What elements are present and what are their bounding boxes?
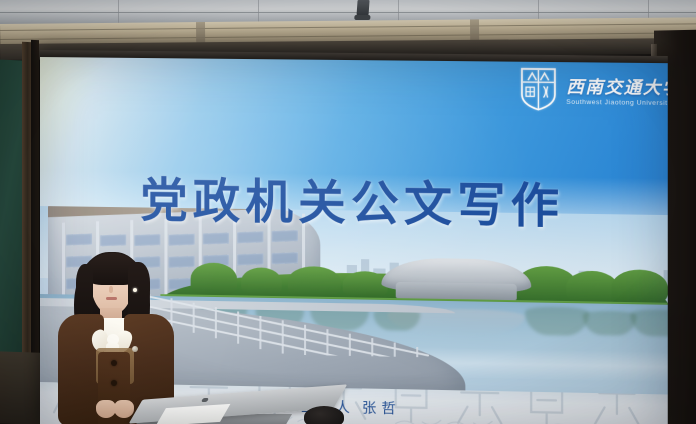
earring: [133, 288, 137, 292]
university-name-en: Southwest Jiaotong University: [566, 99, 668, 107]
jacket-button: [111, 360, 117, 366]
lower-left-wall: [0, 351, 40, 424]
projector-mount-icon: [356, 0, 369, 17]
presenter-name: 张哲: [362, 402, 401, 418]
slide-title: 党政机关公文写作: [40, 160, 668, 239]
hand-right: [114, 400, 134, 418]
jacket-button: [111, 380, 117, 386]
nose: [109, 286, 113, 293]
lapel-pin: [132, 346, 138, 352]
hand-left: [96, 400, 116, 418]
lecture-hall-scene: 西南交通大学 Southwest Jiaotong University 党政机…: [0, 0, 696, 424]
university-name-cn: 西南交通大学: [566, 72, 668, 99]
lectern-object: [304, 406, 344, 424]
university-logo: 西南交通大学 Southwest Jiaotong University: [519, 67, 668, 112]
mouth: [106, 297, 117, 300]
lectern[interactable]: [140, 392, 336, 424]
walkway-railing: [140, 292, 434, 358]
shield-crest-icon: [519, 67, 558, 111]
left-wall-strip: [31, 40, 39, 380]
